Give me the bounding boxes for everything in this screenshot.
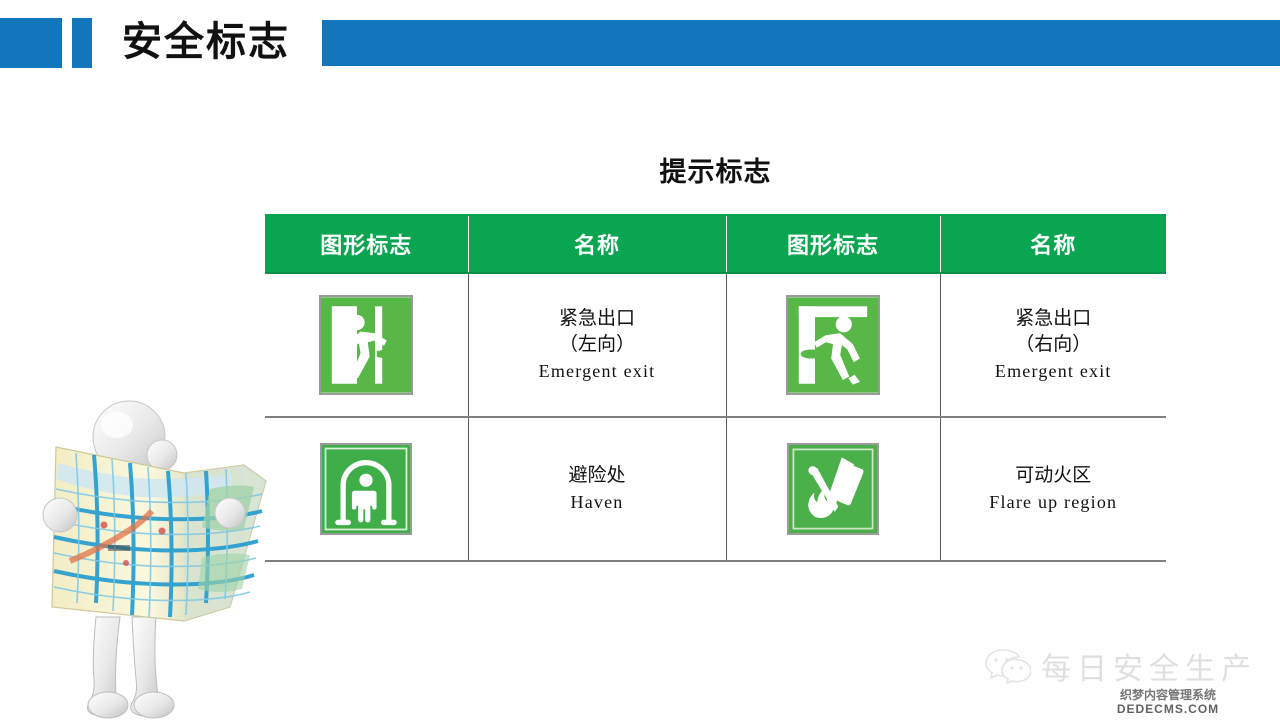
icon-wrap bbox=[265, 295, 468, 395]
sign-name-en: Flare up region bbox=[941, 489, 1167, 516]
column-header-graphic-2: 图形标志 bbox=[726, 215, 940, 273]
sign-cell-emergency-exit-left bbox=[265, 273, 468, 417]
icon-wrap bbox=[727, 295, 940, 395]
mascot-figure-with-map bbox=[34, 385, 284, 720]
sign-name-cn: 避险处 bbox=[469, 463, 726, 489]
header-accent-block-small bbox=[72, 18, 92, 68]
sign-name-cn: 紧急出口 （右向） bbox=[941, 306, 1167, 358]
header-accent-bar bbox=[322, 20, 1280, 66]
name-cell: 紧急出口 （右向） Emergent exit bbox=[940, 273, 1166, 417]
sign-cell-flare-up-region bbox=[726, 417, 940, 561]
table-row: 紧急出口 （左向） Emergent exit bbox=[265, 273, 1166, 417]
haven-shelter-icon bbox=[320, 443, 412, 535]
column-header-graphic-1: 图形标志 bbox=[265, 215, 468, 273]
sign-name-en: Emergent exit bbox=[941, 358, 1167, 385]
sign-cell-haven bbox=[265, 417, 468, 561]
table-row: 避险处 Haven bbox=[265, 417, 1166, 561]
sign-cell-emergency-exit-right bbox=[726, 273, 940, 417]
flare-up-region-icon bbox=[787, 443, 879, 535]
page-header: 安全标志 bbox=[0, 0, 1280, 92]
name-cell: 紧急出口 （左向） Emergent exit bbox=[468, 273, 726, 417]
icon-wrap bbox=[265, 443, 468, 535]
sign-name-cn: 紧急出口 （左向） bbox=[469, 306, 726, 358]
dedecms-watermark-cn: 织梦内容管理系统 bbox=[1117, 688, 1219, 702]
table-header-row: 图形标志 名称 图形标志 名称 bbox=[265, 215, 1166, 273]
sign-name-cn: 可动火区 bbox=[941, 463, 1167, 489]
sign-name-en: Emergent exit bbox=[469, 358, 726, 385]
wechat-watermark: 每日安全生产 bbox=[985, 640, 1265, 692]
section-title: 提示标志 bbox=[265, 150, 1166, 189]
column-header-name-2: 名称 bbox=[940, 215, 1166, 273]
page-title: 安全标志 bbox=[122, 12, 290, 72]
name-cell: 可动火区 Flare up region bbox=[940, 417, 1166, 561]
dedecms-watermark-en: DEDECMS.COM bbox=[1117, 702, 1219, 716]
icon-wrap bbox=[727, 443, 940, 535]
dedecms-watermark: 织梦内容管理系统 DEDECMS.COM bbox=[1117, 688, 1219, 716]
name-cell: 避险处 Haven bbox=[468, 417, 726, 561]
safety-sign-table: 图形标志 名称 图形标志 名称 bbox=[265, 214, 1166, 562]
emergency-exit-right-icon bbox=[786, 295, 880, 395]
sign-name-en: Haven bbox=[469, 489, 726, 516]
wechat-icon bbox=[985, 647, 1031, 685]
emergency-exit-left-icon bbox=[319, 295, 413, 395]
column-header-name-1: 名称 bbox=[468, 215, 726, 273]
header-accent-block-large bbox=[0, 18, 62, 68]
wechat-watermark-text: 每日安全生产 bbox=[1041, 644, 1257, 688]
